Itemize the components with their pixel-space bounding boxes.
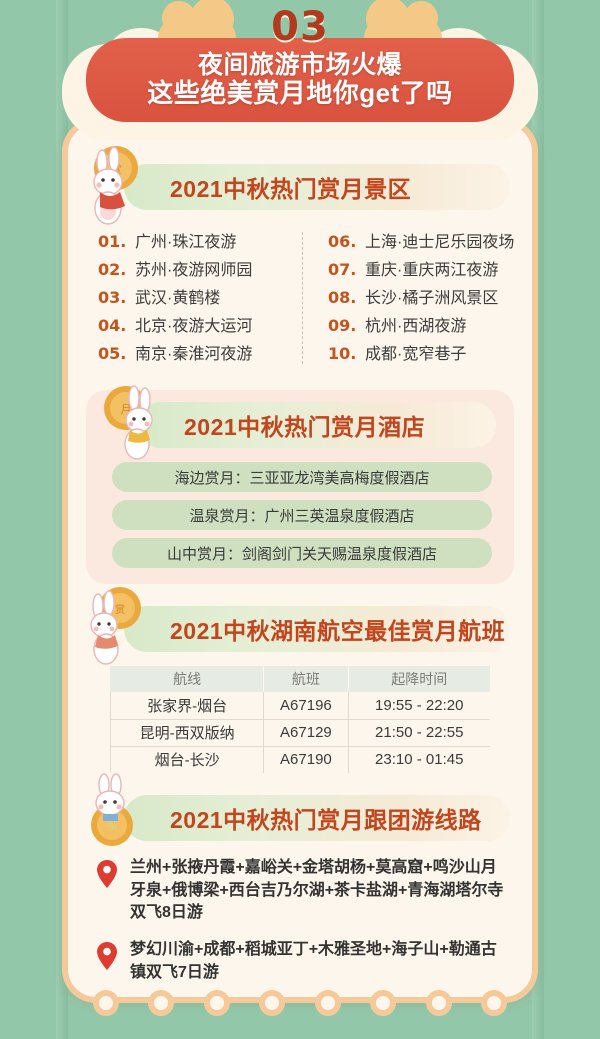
item-label: 上海·迪士尼乐园夜场 xyxy=(365,228,514,252)
table-row[interactable]: 昆明-西双版纳 A67129 21:50 - 22:55 xyxy=(111,719,491,746)
table-row[interactable]: 烟台-长沙 A67190 23:10 - 01:45 xyxy=(111,746,491,773)
main-title-line-2: 这些绝美赏月地你get了吗 xyxy=(147,79,453,109)
list-item[interactable]: 08. 长沙·橘子洲风景区 xyxy=(328,284,506,312)
tour-route-text: 梦幻川渝+成都+稻城亚丁+木雅圣地+海子山+勒通古镇双飞7日游 xyxy=(130,939,506,984)
route-title: 2021中秋热门赏月跟团游线路 xyxy=(170,801,482,835)
map-pin-icon xyxy=(96,939,122,976)
item-number: 02. xyxy=(98,260,128,279)
hotel-row[interactable]: 山中赏月：剑阁剑门关天赐温泉度假酒店 xyxy=(112,538,492,568)
scenic-column-right: 06. 上海·迪士尼乐园夜场 07. 重庆·重庆两江夜游 08. 长沙·橘子洲风… xyxy=(302,228,506,368)
item-label: 长沙·橘子洲风景区 xyxy=(365,284,498,308)
hotel-row[interactable]: 海边赏月：三亚亚龙湾美高梅度假酒店 xyxy=(112,462,492,492)
tour-route-item[interactable]: 兰州+张掖丹霞+嘉峪关+金塔胡杨+莫高窟+鸣沙山月牙泉+俄博梁+西台吉乃尔湖+茶… xyxy=(96,857,506,925)
section-hotels: 2021中秋热门赏月酒店 月 海边赏月 xyxy=(86,390,514,584)
item-label: 杭州·西湖夜游 xyxy=(365,312,466,336)
rabbit-mooncake-icon: 赏 xyxy=(76,142,152,228)
scenic-list: 01. 广州·珠江夜游 02. 苏州·夜游网师园 03. 武汉·黄鹤楼 04. … xyxy=(98,228,506,368)
content-card: 2021中秋热门赏月景区 赏 xyxy=(62,118,538,1003)
cell-time: 23:10 - 01:45 xyxy=(348,746,490,773)
tour-route-text: 兰州+张掖丹霞+嘉峪关+金塔胡杨+莫高窟+鸣沙山月牙泉+俄博梁+西台吉乃尔湖+茶… xyxy=(130,857,506,925)
flight-table-header-row: 航线 航班 起降时间 xyxy=(111,666,491,692)
scenic-section-header: 2021中秋热门赏月景区 赏 xyxy=(124,164,510,210)
item-label: 重庆·重庆两江夜游 xyxy=(365,256,498,280)
item-label: 武汉·黄鹤楼 xyxy=(135,284,220,308)
cell-route: 烟台-长沙 xyxy=(111,746,264,773)
table-row[interactable]: 张家界-烟台 A67196 19:55 - 22:20 xyxy=(111,692,491,719)
section-scenic-spots: 2021中秋热门赏月景区 赏 xyxy=(68,164,532,368)
section-tour-routes: 2021中秋热门赏月跟团游线路 乐 xyxy=(68,795,532,985)
column-header-flightno: 航班 xyxy=(264,666,348,692)
tour-route-list: 兰州+张掖丹霞+嘉峪关+金塔胡杨+莫高窟+鸣沙山月牙泉+俄博梁+西台吉乃尔湖+茶… xyxy=(96,857,506,985)
hotel-row-list: 海边赏月：三亚亚龙湾美高梅度假酒店 温泉赏月：广州三英温泉度假酒店 山中赏月：剑… xyxy=(112,462,492,568)
route-section-header: 2021中秋热门赏月跟团游线路 乐 xyxy=(124,795,510,841)
flight-title: 2021中秋湖南航空最佳赏月航班 xyxy=(170,612,505,646)
cell-time: 19:55 - 22:20 xyxy=(348,692,490,719)
list-item[interactable]: 02. 苏州·夜游网师园 xyxy=(98,256,302,284)
item-label: 北京·夜游大运河 xyxy=(135,312,252,336)
cell-route: 昆明-西双版纳 xyxy=(111,719,264,746)
item-label: 广州·珠江夜游 xyxy=(135,228,236,252)
hotel-title-pill: 2021中秋热门赏月酒店 xyxy=(138,402,496,448)
flight-title-pill: 2021中秋湖南航空最佳赏月航班 xyxy=(124,606,510,652)
rabbit-mooncake-icon: 赏 xyxy=(76,584,152,670)
item-label: 苏州·夜游网师园 xyxy=(135,256,252,280)
item-number: 10. xyxy=(328,344,358,363)
card-scallop-bottom xyxy=(78,990,522,1010)
list-item[interactable]: 09. 杭州·西湖夜游 xyxy=(328,312,506,340)
svg-text:乐: 乐 xyxy=(107,821,117,833)
hotel-row[interactable]: 温泉赏月：广州三英温泉度假酒店 xyxy=(112,500,492,530)
section-number-badge: 03 xyxy=(271,4,329,50)
map-pin-icon xyxy=(96,857,122,894)
rabbit-mooncake-icon: 月 xyxy=(90,380,166,466)
main-title-banner: 夜间旅游市场火爆 这些绝美赏月地你get了吗 xyxy=(86,38,514,122)
item-number: 01. xyxy=(98,232,128,251)
item-number: 03. xyxy=(98,288,128,307)
list-item[interactable]: 05. 南京·秦淮河夜游 xyxy=(98,340,302,368)
flight-table: 航线 航班 起降时间 张家界-烟台 A67196 19:55 - 22:20 昆… xyxy=(110,666,490,773)
item-number: 04. xyxy=(98,316,128,335)
route-title-pill: 2021中秋热门赏月跟团游线路 xyxy=(124,795,510,841)
infographic-page: 03 夜间旅游市场火爆 这些绝美赏月地你get了吗 2021中秋热门赏月景区 赏 xyxy=(0,0,600,1039)
scenic-title: 2021中秋热门赏月景区 xyxy=(170,170,411,204)
section-flights: 2021中秋湖南航空最佳赏月航班 赏 xyxy=(68,606,532,773)
list-item[interactable]: 04. 北京·夜游大运河 xyxy=(98,312,302,340)
list-item[interactable]: 01. 广州·珠江夜游 xyxy=(98,228,302,256)
item-number: 09. xyxy=(328,316,358,335)
item-number: 07. xyxy=(328,260,358,279)
hotel-title: 2021中秋热门赏月酒店 xyxy=(184,408,425,442)
flight-section-header: 2021中秋湖南航空最佳赏月航班 赏 xyxy=(124,606,510,652)
cell-flightno: A67196 xyxy=(264,692,348,719)
item-number: 05. xyxy=(98,344,128,363)
list-item[interactable]: 07. 重庆·重庆两江夜游 xyxy=(328,256,506,284)
main-title-line-1: 夜间旅游市场火爆 xyxy=(198,51,402,80)
item-number: 06. xyxy=(328,232,358,251)
item-number: 08. xyxy=(328,288,358,307)
list-item[interactable]: 03. 武汉·黄鹤楼 xyxy=(98,284,302,312)
tour-route-item[interactable]: 梦幻川渝+成都+稻城亚丁+木雅圣地+海子山+勒通古镇双飞7日游 xyxy=(96,939,506,984)
rabbit-mooncake-icon: 乐 xyxy=(76,773,152,859)
svg-text:赏: 赏 xyxy=(115,604,125,616)
hero-header: 03 夜间旅游市场火爆 这些绝美赏月地你get了吗 xyxy=(0,0,600,140)
cell-flightno: A67190 xyxy=(264,746,348,773)
item-label: 南京·秦淮河夜游 xyxy=(135,340,252,364)
cell-time: 21:50 - 22:55 xyxy=(348,719,490,746)
list-item[interactable]: 06. 上海·迪士尼乐园夜场 xyxy=(328,228,506,256)
scenic-column-left: 01. 广州·珠江夜游 02. 苏州·夜游网师园 03. 武汉·黄鹤楼 04. … xyxy=(98,228,302,368)
column-header-time: 起降时间 xyxy=(348,666,490,692)
cell-flightno: A67129 xyxy=(264,719,348,746)
item-label: 成都·宽窄巷子 xyxy=(365,340,466,364)
list-item[interactable]: 10. 成都·宽窄巷子 xyxy=(328,340,506,368)
cell-route: 张家界-烟台 xyxy=(111,692,264,719)
scenic-title-pill: 2021中秋热门赏月景区 xyxy=(124,164,510,210)
column-divider xyxy=(302,232,303,364)
hotel-section-header: 2021中秋热门赏月酒店 月 xyxy=(138,402,496,448)
